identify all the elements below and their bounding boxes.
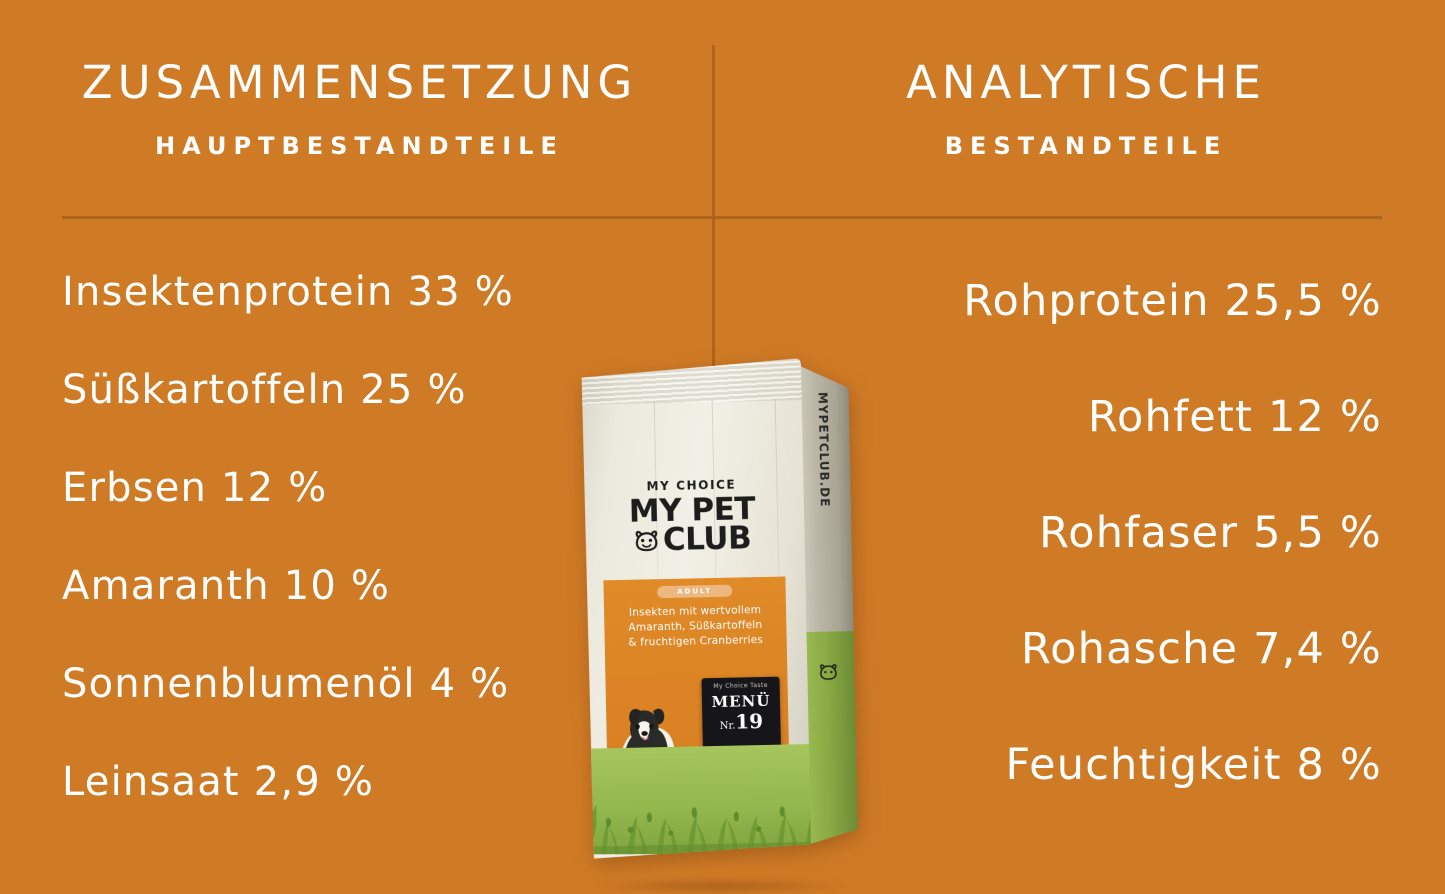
bag-grass-graphic bbox=[585, 744, 811, 859]
list-item: Rohprotein 25,5 % bbox=[782, 243, 1382, 359]
dog-face-icon-side bbox=[818, 661, 838, 681]
right-column-subtitle: BESTANDTEILE bbox=[790, 132, 1382, 160]
right-column-header: ANALYTISCHE BESTANDTEILE bbox=[790, 58, 1382, 160]
dog-food-bag: MYPETCLUB.DE MY CHOICE MY PET bbox=[577, 357, 852, 858]
right-column-title: ANALYTISCHE bbox=[790, 58, 1382, 108]
bag-front-panel: MY CHOICE MY PET CLUB bbox=[577, 358, 811, 859]
claim-line-3: & fruchtigen Cranberries bbox=[611, 633, 781, 652]
list-item: Insektenprotein 33 % bbox=[62, 243, 662, 341]
menu-nr-prefix: Nr. bbox=[720, 721, 736, 732]
menu-taste-label: My Choice Taste bbox=[702, 682, 780, 691]
left-column-header: ZUSAMMENSETZUNG HAUPTBESTANDTEILE bbox=[62, 58, 657, 160]
bag-side-url: MYPETCLUB.DE bbox=[816, 392, 832, 508]
logo-line-club: CLUB bbox=[663, 524, 752, 554]
left-column-title: ZUSAMMENSETZUNG bbox=[62, 58, 657, 108]
menu-number: Nr.19 bbox=[702, 709, 780, 735]
header-horizontal-divider bbox=[62, 216, 1382, 219]
product-bag-image: MYPETCLUB.DE MY CHOICE MY PET bbox=[560, 352, 890, 894]
product-claim: Insekten mit wertvollem Amaranth, Süßkar… bbox=[610, 603, 781, 652]
column-vertical-divider bbox=[712, 45, 715, 375]
dog-face-icon bbox=[634, 529, 660, 552]
bag-drop-shadow bbox=[590, 878, 848, 894]
bag-top-seal bbox=[577, 358, 802, 405]
menu-nr-value: 19 bbox=[735, 709, 763, 734]
menu-word: MENÜ bbox=[702, 692, 780, 712]
left-column-subtitle: HAUPTBESTANDTEILE bbox=[62, 132, 657, 160]
infographic-canvas: ZUSAMMENSETZUNG HAUPTBESTANDTEILE ANALYT… bbox=[0, 0, 1445, 894]
brand-logo: MY CHOICE MY PET CLUB bbox=[579, 476, 805, 556]
variant-badge: ADULT bbox=[657, 585, 732, 599]
grass-silhouette bbox=[586, 784, 811, 859]
